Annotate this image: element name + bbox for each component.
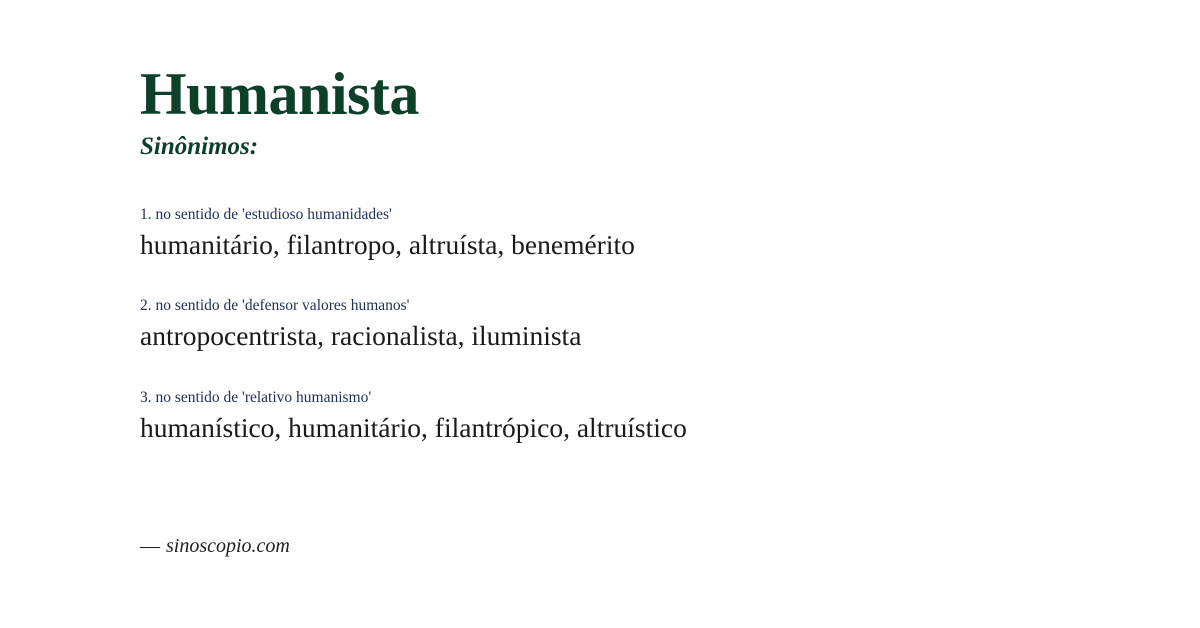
attribution: —sinoscopio.com [140, 534, 290, 558]
sense-entry: 2. no sentido de 'defensor valores human… [140, 296, 1160, 353]
sense-synonyms: humanitário, filantropo, altruísta, bene… [140, 227, 1160, 262]
em-dash-icon: — [140, 535, 166, 557]
sense-entry: 3. no sentido de 'relativo humanismo' hu… [140, 388, 1160, 445]
attribution-source: sinoscopio.com [166, 535, 290, 557]
sense-label: 3. no sentido de 'relativo humanismo' [140, 388, 1160, 408]
page-title: Humanista [140, 64, 419, 124]
sense-entry: 1. no sentido de 'estudioso humanidades'… [140, 205, 1160, 262]
synonym-card: Humanista Sinônimos: 1. no sentido de 'e… [0, 0, 1200, 628]
synonyms-heading: Sinônimos: [140, 134, 258, 159]
sense-synonyms: antropocentrista, racionalista, iluminis… [140, 318, 1160, 353]
sense-label: 2. no sentido de 'defensor valores human… [140, 296, 1160, 316]
sense-list: 1. no sentido de 'estudioso humanidades'… [140, 205, 1160, 445]
sense-synonyms: humanístico, humanitário, filantrópico, … [140, 410, 1160, 445]
sense-label: 1. no sentido de 'estudioso humanidades' [140, 205, 1160, 225]
